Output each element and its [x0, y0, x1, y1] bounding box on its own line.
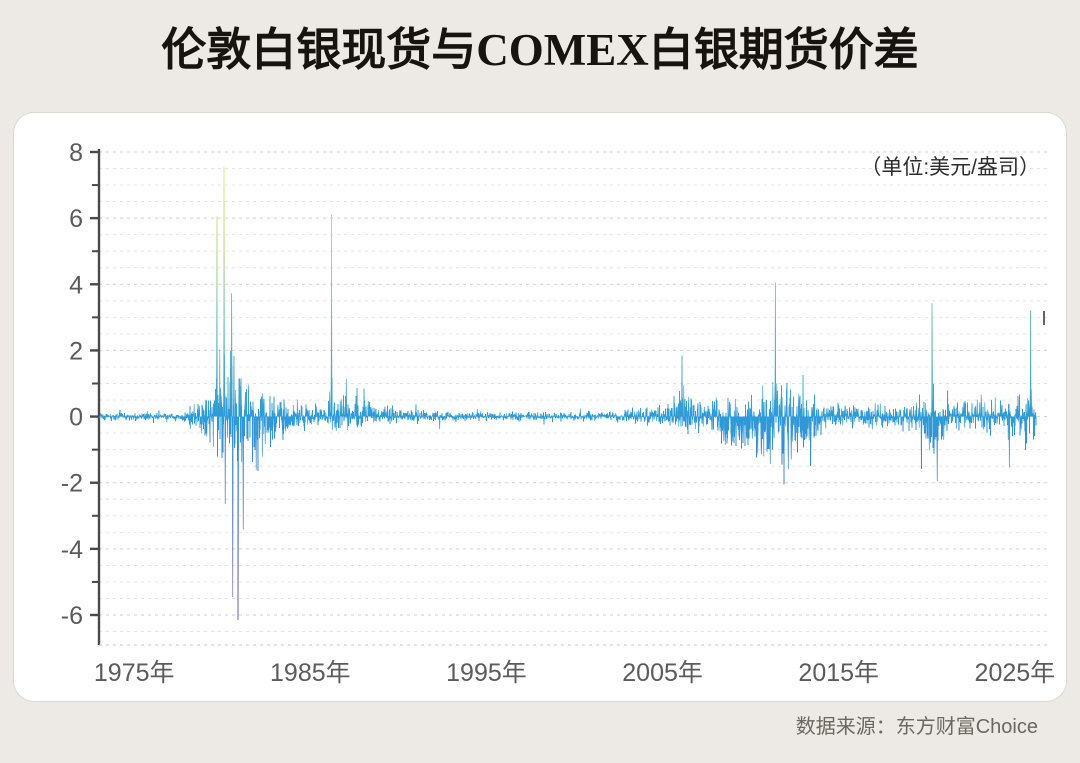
y-tick-label: 4 [69, 271, 83, 299]
x-tick-label: 1975年 [94, 659, 175, 687]
x-tick-label: 2005年 [622, 659, 703, 687]
y-axis [90, 149, 99, 645]
y-tick-labels: 86420-2-4-6 [61, 139, 83, 630]
page-title: 伦敦白银现货与COMEX白银期货价差 [0, 22, 1080, 78]
chart-plot-area: 86420-2-4-6 1975年1985年1995年2005年2015年202… [14, 113, 1066, 701]
y-tick-label: 0 [69, 404, 83, 432]
source-note: 数据来源：东方财富Choice [796, 710, 1038, 739]
y-tick-label: 6 [69, 205, 83, 233]
y-tick-label: -2 [61, 470, 83, 498]
y-tick-label: 8 [69, 139, 83, 167]
chart-card: 86420-2-4-6 1975年1985年1995年2005年2015年202… [14, 113, 1066, 701]
x-tick-label: 1995年 [446, 659, 527, 687]
y-tick-label: 2 [69, 337, 83, 365]
x-tick-label: 1985年 [270, 659, 351, 687]
spread-chart: 86420-2-4-6 1975年1985年1995年2005年2015年202… [14, 113, 1066, 701]
x-tick-label: 2015年 [798, 659, 879, 687]
unit-annotation: （单位:美元/盎司） [860, 151, 1040, 181]
y-tick-label: -4 [61, 536, 83, 564]
y-tick-label: -6 [61, 602, 83, 630]
x-tick-label: 2025年 [975, 659, 1056, 687]
x-tick-labels: 1975年1985年1995年2005年2015年2025年 [94, 659, 1055, 687]
